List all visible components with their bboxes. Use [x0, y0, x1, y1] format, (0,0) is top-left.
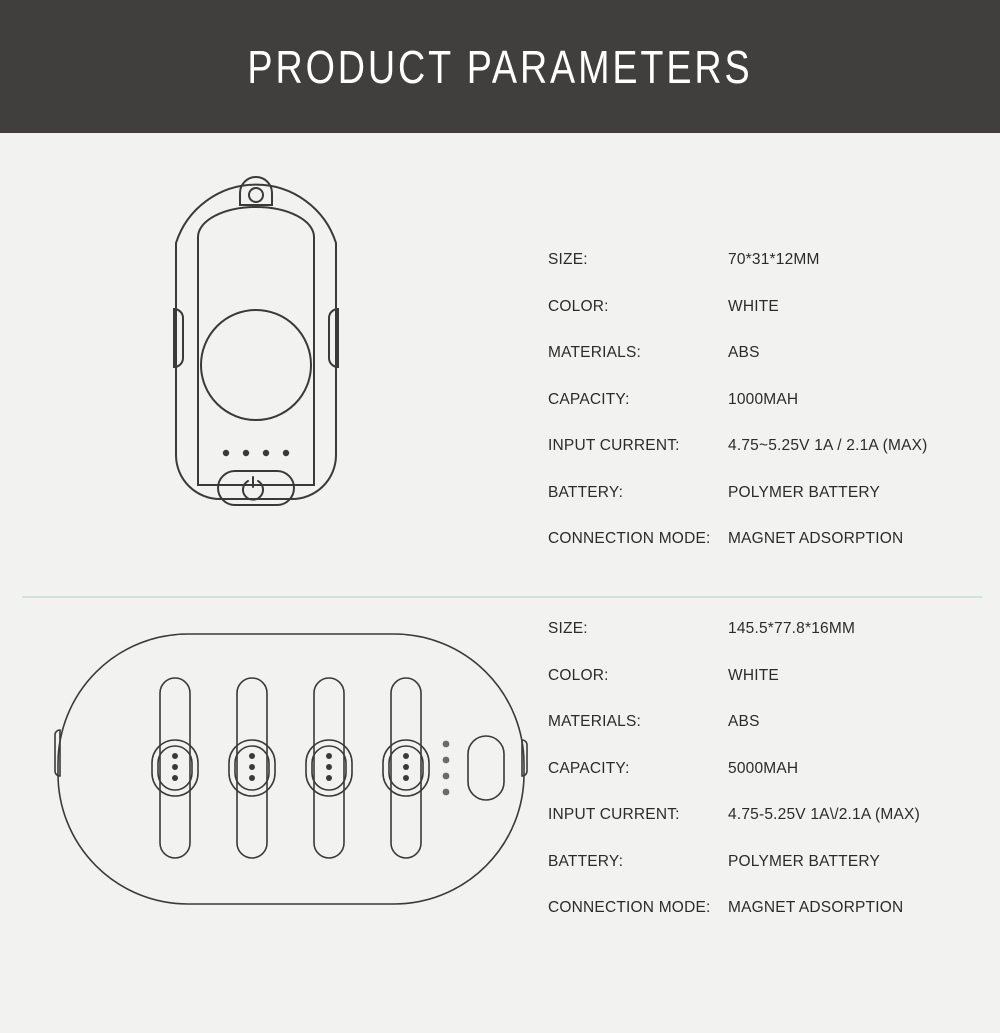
spec-value: POLYMER BATTERY [728, 484, 880, 502]
spec-row: BATTERY: POLYMER BATTERY [548, 853, 920, 900]
multi-slot-charging-dock-illustration [0, 608, 540, 938]
spec-label: CAPACITY: [548, 391, 728, 409]
spec-value: MAGNET ADSORPTION [728, 530, 903, 548]
spec-label: CONNECTION MODE: [548, 530, 728, 548]
spec-value: POLYMER BATTERY [728, 853, 880, 871]
spec-value: 70*31*12MM [728, 251, 820, 269]
spec-label: INPUT CURRENT: [548, 806, 728, 824]
spec-label: CONNECTION MODE: [548, 899, 728, 917]
spec-label: BATTERY: [548, 484, 728, 502]
spec-label: COLOR: [548, 667, 728, 685]
spec-row: INPUT CURRENT: 4.75-5.25V 1A\/2.1A (MAX) [548, 806, 920, 853]
spec-label: CAPACITY: [548, 760, 728, 778]
spec-row: CAPACITY: 5000MAH [548, 760, 920, 807]
spec-row: CONNECTION MODE: MAGNET ADSORPTION [548, 899, 920, 946]
magnetic-contact-pins [172, 753, 409, 781]
spec-value: 4.75-5.25V 1A\/2.1A (MAX) [728, 806, 920, 824]
spec-row: MATERIALS: ABS [548, 344, 928, 391]
spec-row: SIZE: 145.5*77.8*16MM [548, 620, 920, 667]
product-section-power-bank: SIZE: 70*31*12MM COLOR: WHITE MATERIALS:… [0, 133, 1000, 588]
page-header: PRODUCT PARAMETERS [0, 0, 1000, 133]
keychain-power-bank-illustration [0, 133, 520, 588]
spec-value: ABS [728, 344, 760, 362]
spec-row: MATERIALS: ABS [548, 713, 920, 760]
spec-row: BATTERY: POLYMER BATTERY [548, 484, 928, 531]
spec-value: 5000MAH [728, 760, 798, 778]
spec-row: COLOR: WHITE [548, 298, 928, 345]
spec-label: SIZE: [548, 620, 728, 638]
spec-row: COLOR: WHITE [548, 667, 920, 714]
spec-table-power-bank: SIZE: 70*31*12MM COLOR: WHITE MATERIALS:… [548, 251, 928, 577]
spec-value: 1000MAH [728, 391, 798, 409]
spec-value: ABS [728, 713, 760, 731]
led-indicator-dots [223, 450, 289, 456]
spec-row: CONNECTION MODE: MAGNET ADSORPTION [548, 530, 928, 577]
product-section-charging-dock: SIZE: 145.5*77.8*16MM COLOR: WHITE MATER… [0, 588, 1000, 1008]
spec-row: INPUT CURRENT: 4.75~5.25V 1A / 2.1A (MAX… [548, 437, 928, 484]
spec-row: CAPACITY: 1000MAH [548, 391, 928, 438]
spec-label: BATTERY: [548, 853, 728, 871]
spec-label: SIZE: [548, 251, 728, 269]
dock-led-indicator-dots [443, 741, 450, 796]
power-symbol-icon [243, 477, 263, 500]
spec-label: COLOR: [548, 298, 728, 316]
spec-value: WHITE [728, 667, 779, 685]
spec-value: WHITE [728, 298, 779, 316]
spec-value: 4.75~5.25V 1A / 2.1A (MAX) [728, 437, 928, 455]
spec-label: MATERIALS: [548, 344, 728, 362]
page-title: PRODUCT PARAMETERS [247, 40, 752, 94]
spec-label: INPUT CURRENT: [548, 437, 728, 455]
spec-value: MAGNET ADSORPTION [728, 899, 903, 917]
spec-row: SIZE: 70*31*12MM [548, 251, 928, 298]
spec-label: MATERIALS: [548, 713, 728, 731]
spec-table-charging-dock: SIZE: 145.5*77.8*16MM COLOR: WHITE MATER… [548, 620, 920, 946]
spec-value: 145.5*77.8*16MM [728, 620, 855, 638]
